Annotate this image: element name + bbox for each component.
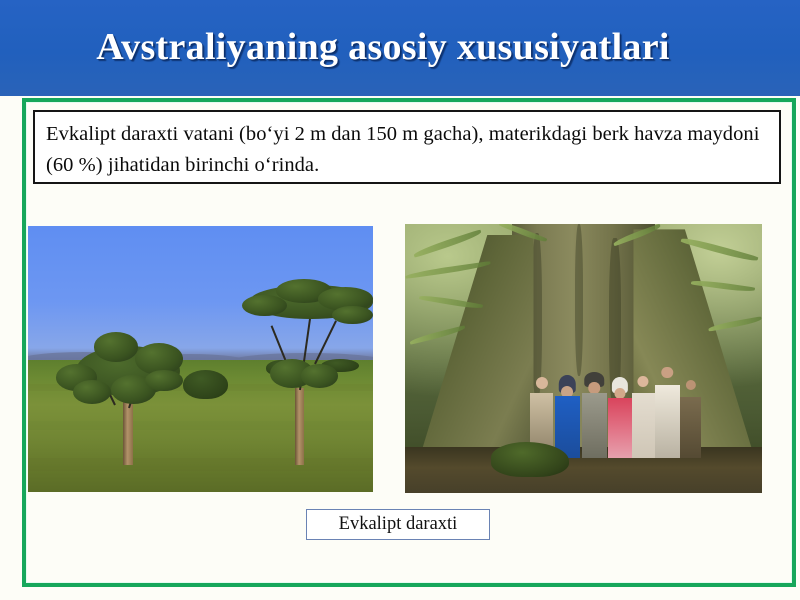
canopy-blob bbox=[73, 380, 111, 404]
image-caption-box: Evkalipt daraxti bbox=[306, 509, 490, 540]
person-body bbox=[655, 385, 680, 458]
title-banner: Avstraliyaning asosiy xususiyatlari bbox=[0, 0, 800, 96]
person bbox=[632, 375, 655, 458]
person bbox=[655, 367, 680, 458]
person bbox=[555, 375, 580, 458]
tree-trunk bbox=[295, 388, 304, 465]
person bbox=[582, 372, 607, 458]
savanna-eucalyptus-photo bbox=[28, 226, 373, 492]
grass-band bbox=[28, 421, 373, 430]
person-head bbox=[638, 376, 649, 387]
bark-streak bbox=[532, 233, 542, 399]
midground-bush bbox=[183, 370, 228, 399]
person-head bbox=[685, 380, 695, 390]
canopy-blob bbox=[94, 332, 139, 361]
giant-eucalyptus-with-people-photo bbox=[405, 224, 762, 493]
canopy-blob bbox=[145, 370, 183, 391]
person-head bbox=[615, 388, 626, 399]
image-caption-label: Evkalipt daraxti bbox=[339, 515, 458, 534]
person-body bbox=[608, 398, 631, 458]
body-text: Evkalipt daraxti vatani (boʻyi 2 m dan 1… bbox=[46, 119, 768, 181]
person-body bbox=[582, 393, 607, 458]
slide-canvas: Avstraliyaning asosiy xususiyatlari Evka… bbox=[0, 0, 800, 600]
body-text-box: Evkalipt daraxti vatani (boʻyi 2 m dan 1… bbox=[33, 110, 781, 184]
grass-band bbox=[28, 458, 373, 471]
page-title: Avstraliyaning asosiy xususiyatlari bbox=[0, 24, 800, 70]
bark-streak bbox=[575, 224, 584, 376]
person-head bbox=[536, 377, 548, 389]
foreground-shrub bbox=[491, 442, 570, 477]
person bbox=[680, 380, 701, 458]
person-body bbox=[680, 397, 701, 458]
person-body bbox=[632, 393, 655, 458]
person-head bbox=[662, 367, 673, 378]
person bbox=[608, 377, 631, 458]
